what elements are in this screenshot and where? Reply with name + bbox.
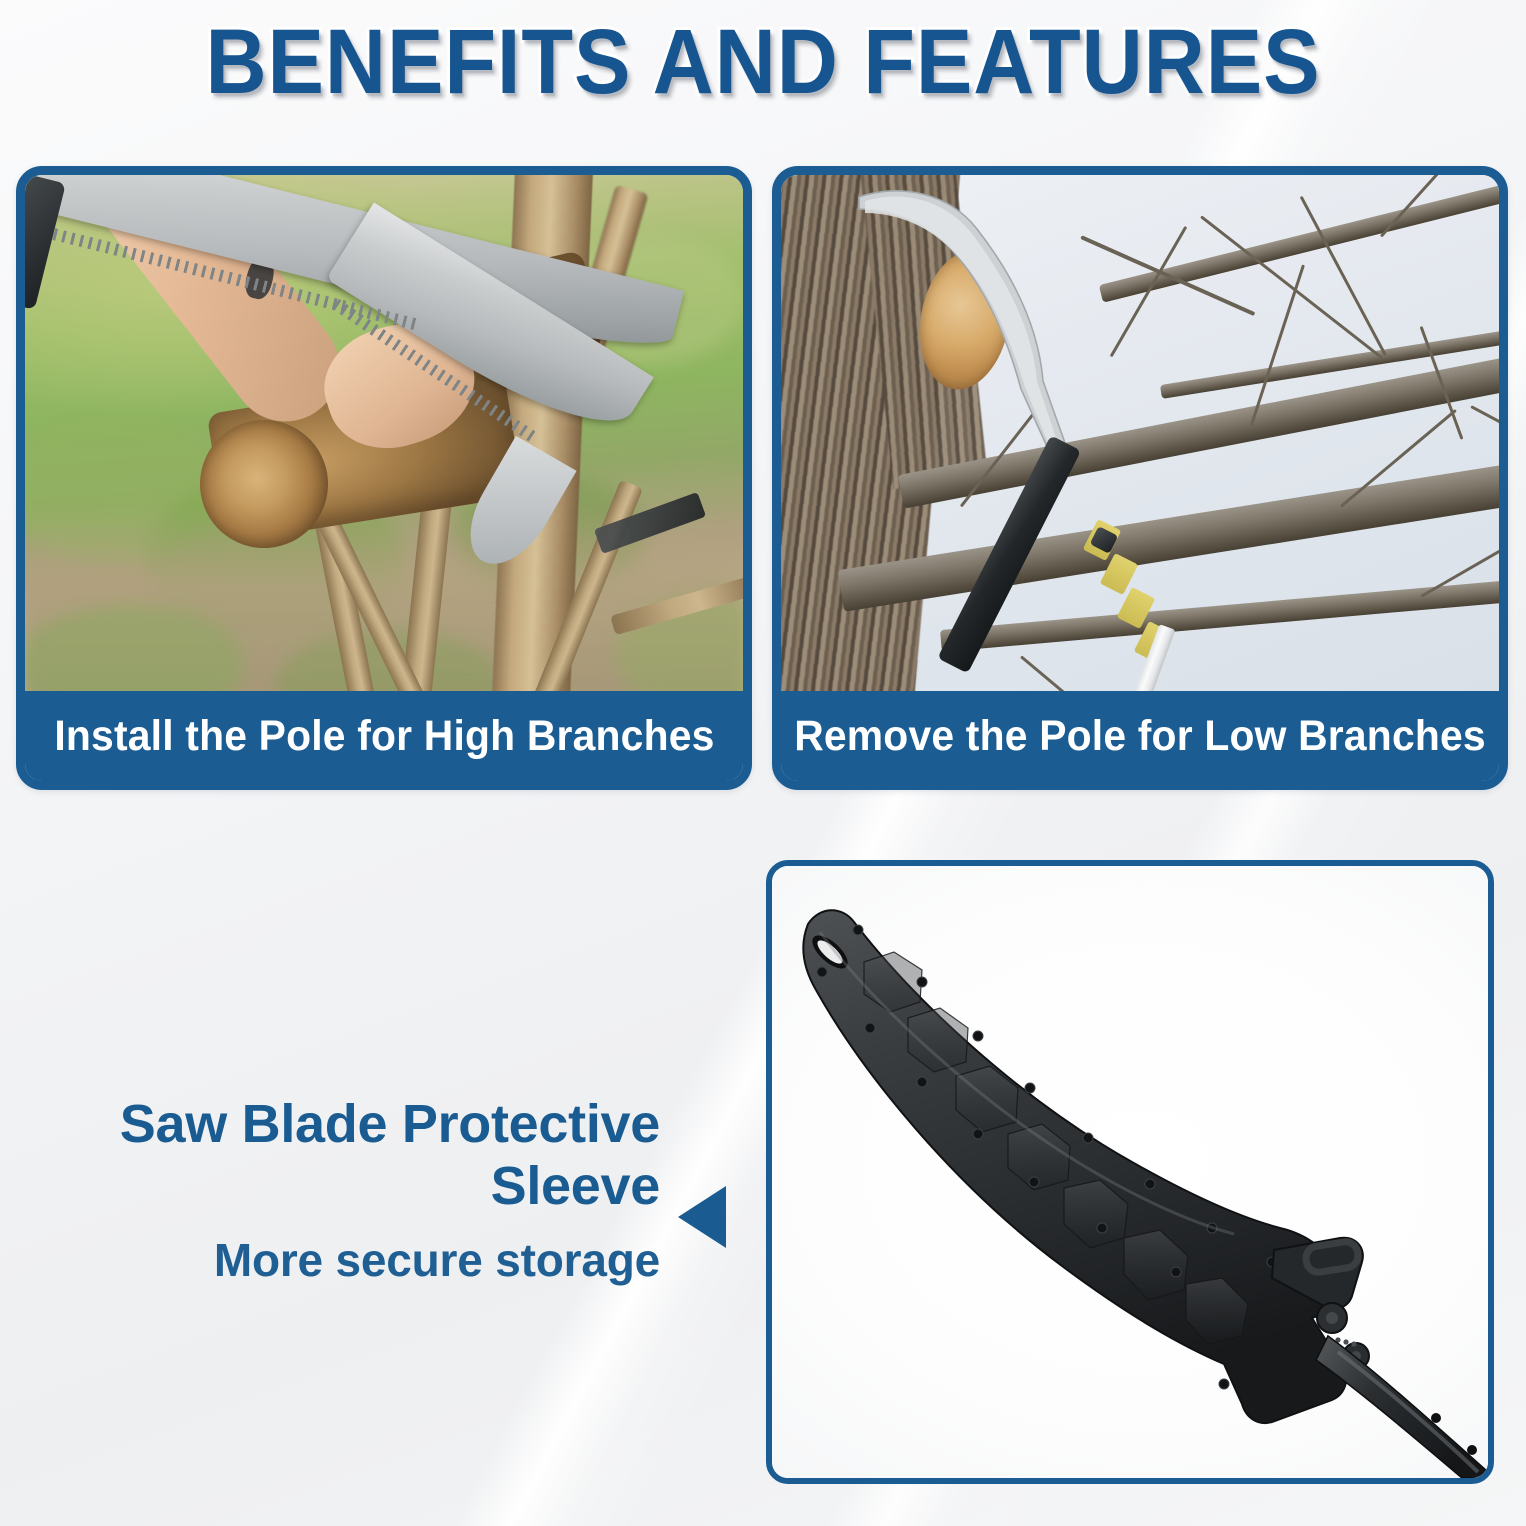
caption-text: Install the Pole for High Branches [54, 712, 714, 761]
photo-install-pole [25, 175, 743, 709]
feature-title-line2: Sleeve [40, 1156, 660, 1218]
feature-card-install-pole: Install the Pole for High Branches [16, 166, 752, 790]
product-card-sleeve [766, 860, 1494, 1484]
feature-subtitle: More secure storage [40, 1233, 660, 1287]
triangle-left-icon [678, 1186, 726, 1248]
pole-saw-blade [781, 175, 1499, 709]
caption-bar-remove-pole: Remove the Pole for Low Branches [781, 691, 1499, 781]
caption-text: Remove the Pole for Low Branches [794, 712, 1486, 761]
blade-sleeve-illustration [772, 866, 1488, 1478]
infographic-page: BENEFITS AND FEATURES [0, 0, 1526, 1526]
feature-title-line1: Saw Blade Protective [40, 1094, 660, 1156]
feature-text-block: Saw Blade Protective Sleeve More secure … [40, 1094, 660, 1287]
caption-bar-install-pole: Install the Pole for High Branches [25, 691, 743, 781]
photo-remove-pole [781, 175, 1499, 709]
page-title-container: BENEFITS AND FEATURES [0, 14, 1526, 111]
page-title: BENEFITS AND FEATURES [206, 14, 1321, 111]
feature-card-remove-pole: Remove the Pole for Low Branches [772, 166, 1508, 790]
